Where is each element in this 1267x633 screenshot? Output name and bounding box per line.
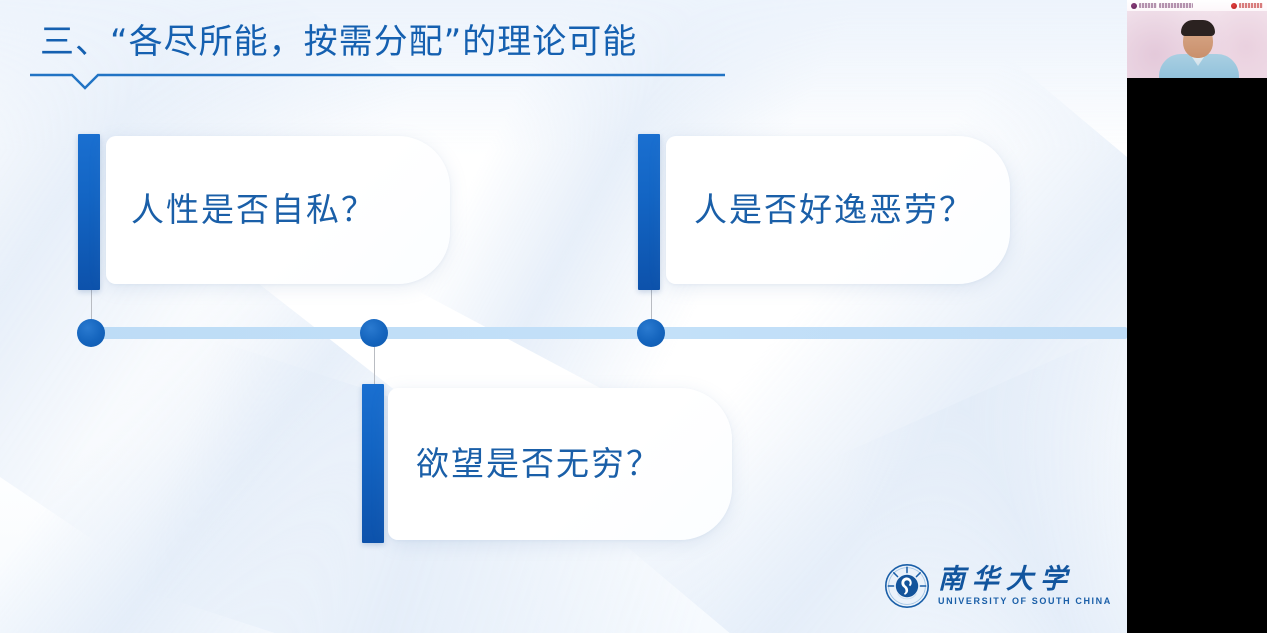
card-accent-bar-3 (362, 384, 384, 543)
logo-chinese-name: 南华大学 (938, 565, 1112, 595)
question-card-3[interactable]: 欲望是否无穷？ (388, 388, 732, 540)
timeline-node-1[interactable] (77, 319, 105, 347)
title-block: 三、“各尽所能，按需分配”的理论可能 (30, 16, 790, 86)
timeline-connector-3 (374, 347, 375, 385)
question-card-1[interactable]: 人性是否自私？ (106, 136, 450, 284)
video-backdrop-banner (1127, 0, 1267, 11)
card-accent-bar-2 (638, 134, 660, 290)
timeline-axis (88, 327, 1127, 339)
timeline-node-2[interactable] (637, 319, 665, 347)
university-emblem-icon (884, 563, 930, 609)
backdrop-logo-right (1231, 3, 1263, 9)
question-card-2-label: 人是否好逸恶劳？ (694, 190, 974, 230)
backdrop-logo-left (1131, 3, 1193, 9)
university-logo: 南华大学 UNIVERSITY OF SOUTH CHINA (884, 560, 1096, 612)
timeline-node-3[interactable] (360, 319, 388, 347)
question-card-1-label: 人性是否自私？ (131, 190, 376, 230)
presentation-slide: 三、“各尽所能，按需分配”的理论可能 人性是否自私？ 人是否好逸恶劳？ 欲望是否… (0, 0, 1127, 633)
presenter-video-feed[interactable] (1127, 0, 1267, 78)
screen: 三、“各尽所能，按需分配”的理论可能 人性是否自私？ 人是否好逸恶劳？ 欲望是否… (0, 0, 1267, 633)
presenter-hair (1181, 20, 1215, 36)
page-title: 三、“各尽所能，按需分配”的理论可能 (40, 16, 637, 68)
question-card-2[interactable]: 人是否好逸恶劳？ (666, 136, 1010, 284)
question-card-3-label: 欲望是否无穷？ (416, 444, 661, 484)
title-underline-icon (30, 69, 725, 93)
card-accent-bar-1 (78, 134, 100, 290)
logo-english-name: UNIVERSITY OF SOUTH CHINA (938, 595, 1112, 607)
video-panel (1127, 0, 1267, 633)
logo-wordmark: 南华大学 UNIVERSITY OF SOUTH CHINA (938, 565, 1112, 607)
